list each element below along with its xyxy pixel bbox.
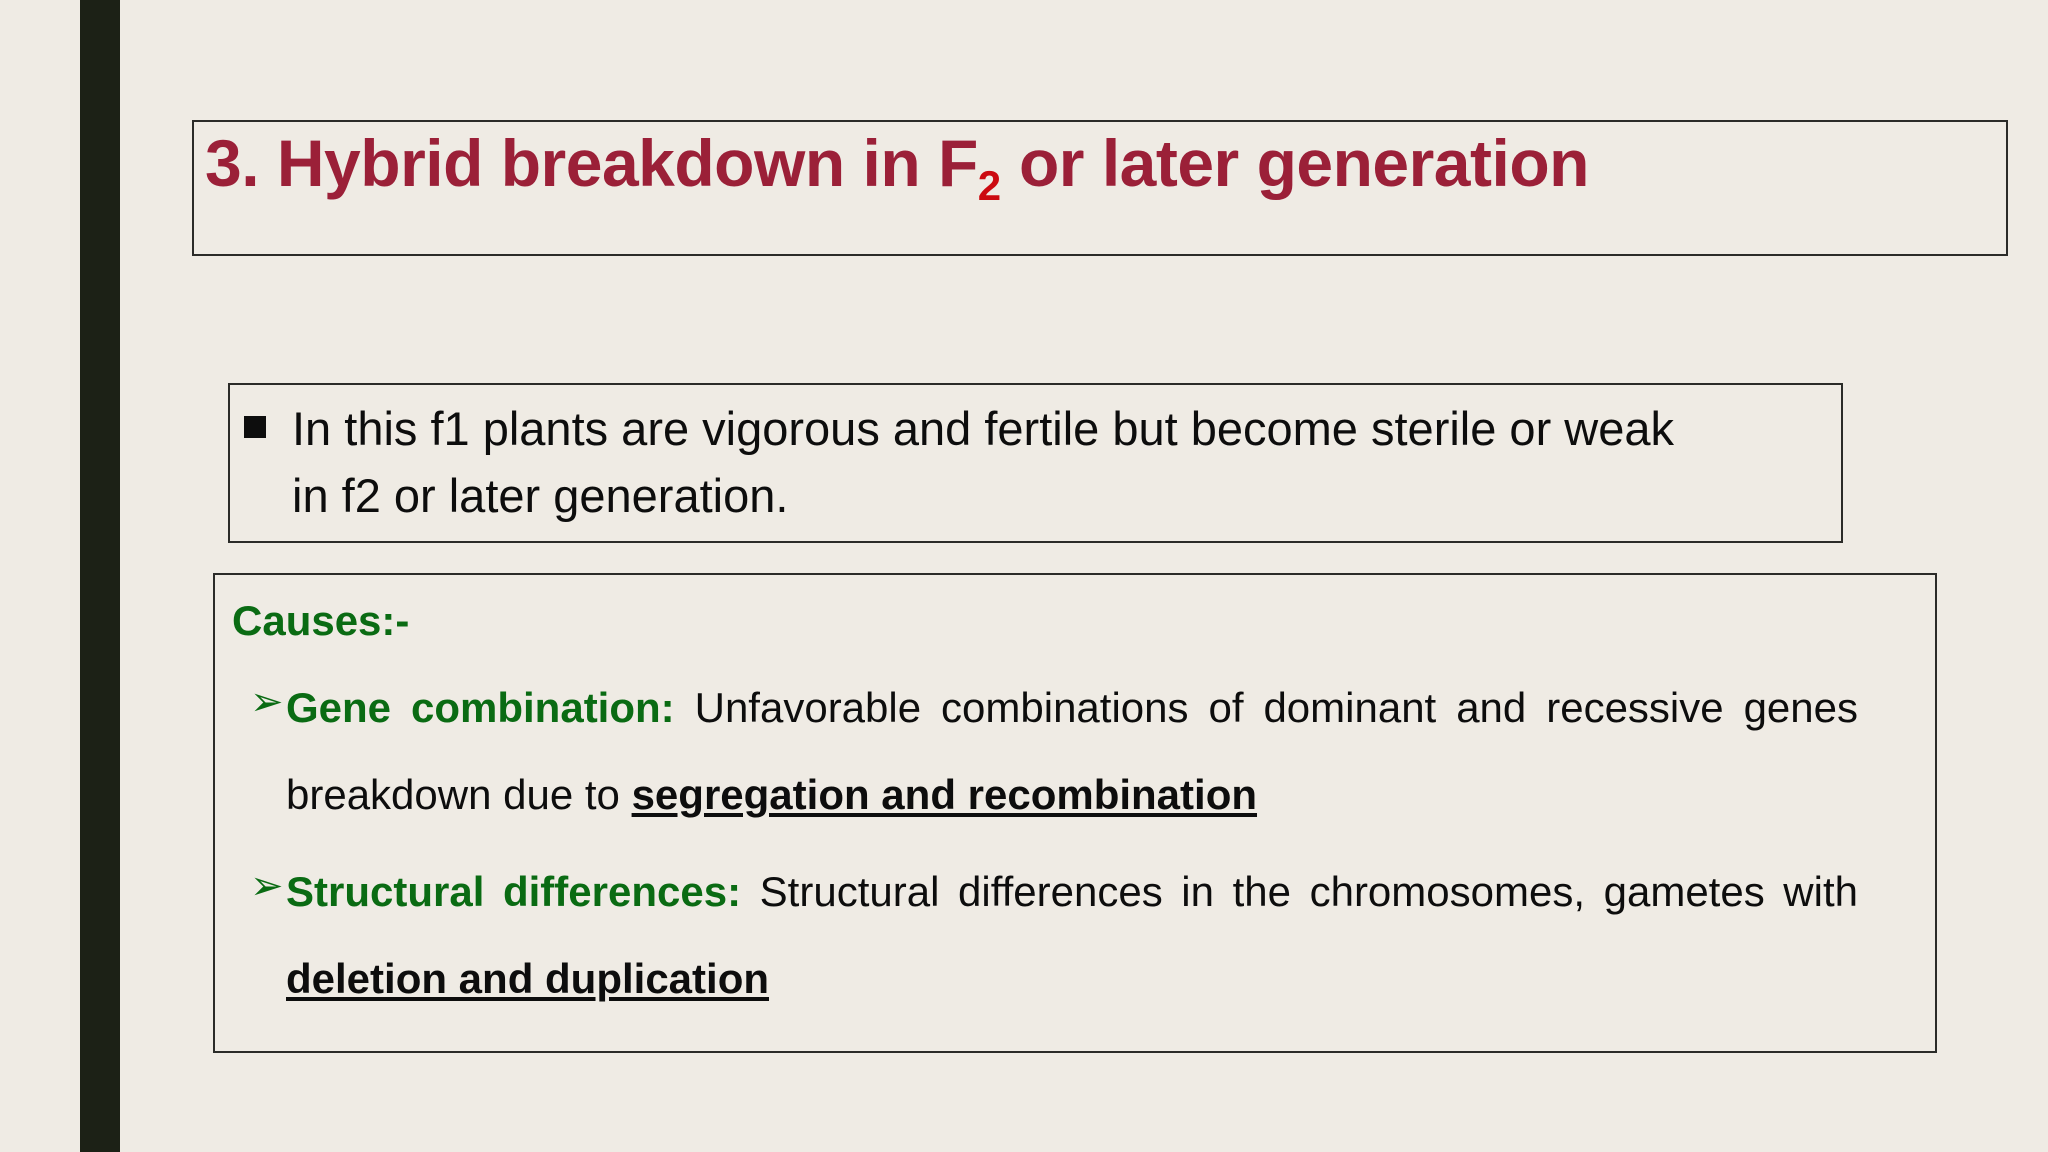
cause-item-structural-differences: ➢ Structural differences: Structural dif… <box>232 848 1858 1022</box>
cause-emphasis-deletion-duplication: deletion and duplication <box>286 955 769 1002</box>
causes-heading: Causes:- <box>232 590 1922 652</box>
cause-item-gene-combination: ➢ Gene combination: Unfavorable combinat… <box>232 664 1858 838</box>
cause-line-gene-combination: Gene combination: Unfavorable combinatio… <box>286 664 1858 838</box>
cause-emphasis-segregation-recombination: segregation and recombination <box>632 771 1257 818</box>
causes-section: Causes:- ➢ Gene combination: Unfavorable… <box>232 590 1922 1032</box>
title-prefix: 3. Hybrid breakdown in F <box>205 126 978 200</box>
arrow-bullet-icon: ➢ <box>250 682 284 722</box>
page-title: 3. Hybrid breakdown in F2 or later gener… <box>205 116 1705 233</box>
bullet-item-text: In this f1 plants are vigorous and ferti… <box>292 395 1682 529</box>
cause-term-structural-differences: Structural differences: <box>286 868 741 915</box>
arrow-bullet-icon: ➢ <box>250 866 284 906</box>
square-bullet-icon <box>244 416 266 438</box>
bullet-list-item: In this f1 plants are vigorous and ferti… <box>244 395 1824 529</box>
cause-body-structural-differences: Structural differences in the chromosome… <box>741 868 1858 915</box>
title-suffix: or later generation <box>1001 126 1589 200</box>
cause-term-gene-combination: Gene combination: <box>286 684 675 731</box>
title-subscript: 2 <box>978 162 1001 209</box>
cause-line-structural-differences: Structural differences: Structural diffe… <box>286 848 1858 1022</box>
slide-accent-bar <box>80 0 120 1152</box>
